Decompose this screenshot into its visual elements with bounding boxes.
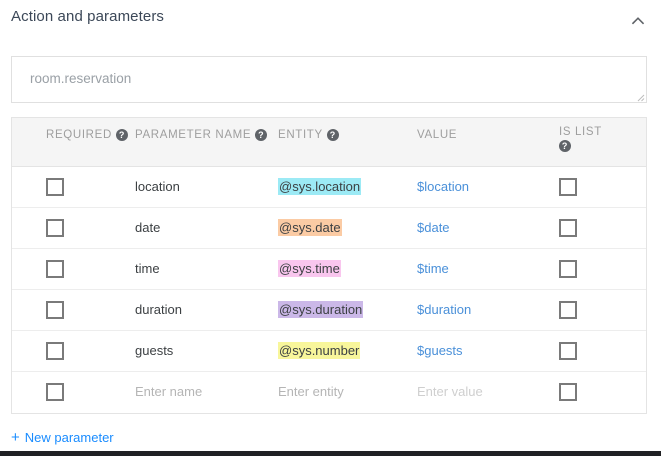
entity-cell[interactable]: @sys.date <box>278 219 342 236</box>
panel-header: Action and parameters <box>0 0 661 45</box>
bottom-bar <box>0 451 661 456</box>
parameter-name-cell[interactable]: time <box>135 261 160 276</box>
table-row: date @sys.date $date <box>12 208 646 249</box>
new-parameter-label: New parameter <box>25 430 114 445</box>
help-icon[interactable]: ? <box>559 140 571 152</box>
parameter-name-cell[interactable]: guests <box>135 343 173 358</box>
entity-cell[interactable]: @sys.time <box>278 260 341 277</box>
help-icon[interactable]: ? <box>255 129 267 141</box>
entity-cell[interactable]: @sys.location <box>278 178 361 195</box>
action-textarea[interactable]: room.reservation <box>11 56 647 103</box>
required-checkbox[interactable] <box>46 219 64 237</box>
parameter-name-cell[interactable]: duration <box>135 302 182 317</box>
resize-grip-icon[interactable] <box>633 89 645 101</box>
entity-input[interactable]: Enter entity <box>278 384 344 399</box>
is-list-checkbox[interactable] <box>559 301 577 319</box>
is-list-checkbox[interactable] <box>559 219 577 237</box>
required-checkbox[interactable] <box>46 301 64 319</box>
table-row: guests @sys.number $guests <box>12 331 646 372</box>
required-checkbox[interactable] <box>46 260 64 278</box>
value-cell[interactable]: $duration <box>417 302 471 317</box>
column-header-required: REQUIRED ? <box>46 129 128 141</box>
plus-icon: + <box>11 430 20 445</box>
page-title: Action and parameters <box>11 8 164 25</box>
table-header-row: REQUIRED ? PARAMETER NAME ? ENTITY ? VAL… <box>12 118 646 167</box>
action-placeholder-text: room.reservation <box>30 71 131 86</box>
value-cell[interactable]: $date <box>417 220 450 235</box>
chevron-up-icon <box>629 12 647 30</box>
collapse-panel-button[interactable] <box>625 8 651 34</box>
help-icon[interactable]: ? <box>327 129 339 141</box>
is-list-checkbox[interactable] <box>559 383 577 401</box>
column-header-entity: ENTITY ? <box>278 129 339 141</box>
required-checkbox[interactable] <box>46 342 64 360</box>
entity-cell[interactable]: @sys.duration <box>278 301 363 318</box>
table-row: duration @sys.duration $duration <box>12 290 646 331</box>
required-checkbox[interactable] <box>46 178 64 196</box>
new-parameter-link[interactable]: + New parameter <box>11 430 114 445</box>
required-checkbox[interactable] <box>46 383 64 401</box>
value-cell[interactable]: $time <box>417 261 449 276</box>
parameters-table: REQUIRED ? PARAMETER NAME ? ENTITY ? VAL… <box>11 117 647 414</box>
table-row: time @sys.time $time <box>12 249 646 290</box>
column-header-is-list: IS LIST ? <box>559 126 602 152</box>
table-row: location @sys.location $location <box>12 167 646 208</box>
is-list-checkbox[interactable] <box>559 260 577 278</box>
value-cell[interactable]: $location <box>417 179 469 194</box>
column-header-parameter-name: PARAMETER NAME ? <box>135 129 267 141</box>
is-list-checkbox[interactable] <box>559 342 577 360</box>
column-header-value: VALUE <box>417 129 457 141</box>
parameter-name-cell[interactable]: date <box>135 220 160 235</box>
help-icon[interactable]: ? <box>116 129 128 141</box>
parameter-name-cell[interactable]: location <box>135 179 180 194</box>
value-input[interactable]: Enter value <box>417 384 483 399</box>
value-cell[interactable]: $guests <box>417 343 463 358</box>
table-row-new: Enter name Enter entity Enter value <box>12 372 646 413</box>
parameter-name-input[interactable]: Enter name <box>135 384 202 399</box>
is-list-checkbox[interactable] <box>559 178 577 196</box>
entity-cell[interactable]: @sys.number <box>278 342 360 359</box>
